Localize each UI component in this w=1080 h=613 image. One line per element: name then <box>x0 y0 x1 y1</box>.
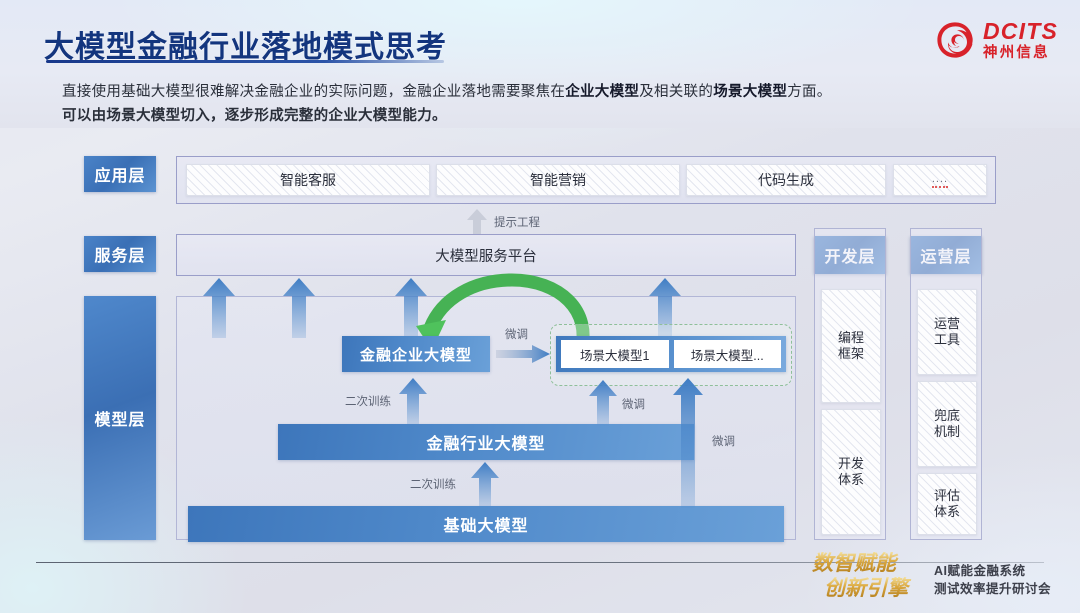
retrain-lower-arrow-icon <box>470 462 500 506</box>
subtitle-text-a: 直接使用基础大模型很难解决金融企业的实际问题，金融企业落地需要聚焦在 <box>62 84 565 100</box>
operations-layer-panel: 运营 工具 兜底 机制 评估 体系 <box>910 228 982 540</box>
ops-box-0-line1: 运营 <box>934 316 960 331</box>
model-bar-base: 基础大模型 <box>188 506 784 542</box>
event-logo-icon: 数智赋能 创新引擎 <box>812 548 924 606</box>
ops-box-1-line1: 兜底 <box>934 408 960 423</box>
title-underline <box>46 60 444 63</box>
up-arrow-2-icon <box>282 278 316 338</box>
ops-box-operation-tools: 运营 工具 <box>917 289 977 375</box>
layer-tag-service: 服务层 <box>84 236 156 272</box>
dev-box-1-line1: 开发 <box>838 456 864 471</box>
brand-logo: DCITS 神州信息 <box>935 20 1058 61</box>
app-box-intelligent-marketing: 智能营销 <box>436 164 680 196</box>
ops-box-1-line2: 机制 <box>934 424 960 439</box>
fine-tune-right-arrow-icon <box>496 345 550 363</box>
arrow-label-fine-tune-mid: 微调 <box>622 396 645 412</box>
dev-box-0-line1: 编程 <box>838 330 864 345</box>
subtitle-line-2: 可以由场景大模型切入，逐步形成完整的企业大模型能力。 <box>62 104 447 125</box>
model-bar-enterprise: 金融企业大模型 <box>342 336 490 372</box>
dev-box-0-line2: 框架 <box>838 346 864 361</box>
logo-text: DCITS 神州信息 <box>983 20 1058 61</box>
dev-box-1-line2: 体系 <box>838 472 864 487</box>
architecture-diagram: 应用层 服务层 模型层 开发层 运营层 大模型服务平台 编程 框架 开发 体系 … <box>0 128 1080 558</box>
subtitle-text-e: 方面。 <box>787 84 831 100</box>
ops-box-evaluation-system: 评估 体系 <box>917 473 977 535</box>
development-layer-panel: 编程 框架 开发 体系 <box>814 228 886 540</box>
subtitle-line-1: 直接使用基础大模型很难解决金融企业的实际问题，金融企业落地需要聚焦在企业大模型及… <box>62 80 832 101</box>
ops-box-2-line1: 评估 <box>934 488 960 503</box>
scene-model-chip-1: 场景大模型1 <box>561 340 669 368</box>
subtitle-strong-scene: 场景大模型 <box>713 84 787 100</box>
up-arrow-1-icon <box>202 278 236 338</box>
retrain-upper-arrow-icon <box>398 378 428 424</box>
scene-model-chip-2: 场景大模型... <box>674 340 782 368</box>
logo-name: DCITS <box>983 20 1058 43</box>
event-title-text: AI赋能金融系统 测试效率提升研讨会 <box>934 562 1051 598</box>
app-box-ellipsis: .... <box>893 164 987 196</box>
event-title-line1: AI赋能金融系统 <box>934 562 1051 580</box>
subtitle-text-c: 及相关联的 <box>639 84 713 100</box>
arrow-label-prompt-engineering: 提示工程 <box>494 214 540 230</box>
svg-text:数智赋能: 数智赋能 <box>812 551 899 575</box>
ops-box-0-line2: 工具 <box>934 332 960 347</box>
app-box-code-generation: 代码生成 <box>686 164 886 196</box>
svg-text:创新引擎: 创新引擎 <box>824 576 912 600</box>
ops-box-fallback-mechanism: 兜底 机制 <box>917 381 977 467</box>
app-box-intelligent-customer-service: 智能客服 <box>186 164 430 196</box>
dcits-swirl-icon <box>935 20 975 60</box>
dev-box-programming-framework: 编程 框架 <box>821 289 881 403</box>
layer-tag-model: 模型层 <box>84 296 156 540</box>
arrow-label-fine-tune-right: 微调 <box>712 433 735 449</box>
ops-box-2-line2: 体系 <box>934 504 960 519</box>
arrow-label-retrain-upper: 二次训练 <box>345 393 391 409</box>
logo-subname: 神州信息 <box>983 46 1058 61</box>
event-title-line2: 测试效率提升研讨会 <box>934 580 1051 598</box>
fine-tune-mid-arrow-icon <box>588 380 618 426</box>
prompt-engineering-arrow-icon <box>466 208 488 234</box>
app-box-ellipsis-label: .... <box>932 173 948 188</box>
scene-model-bar: 场景大模型1 场景大模型... <box>556 336 786 372</box>
subtitle-strong-enterprise: 企业大模型 <box>565 84 639 100</box>
arrow-label-fine-tune-top: 微调 <box>505 326 528 342</box>
model-bar-industry: 金融行业大模型 <box>278 424 694 460</box>
dev-box-development-system: 开发 体系 <box>821 409 881 535</box>
service-platform-label: 大模型服务平台 <box>435 245 537 266</box>
layer-tag-application: 应用层 <box>84 156 156 192</box>
fine-tune-right-tall-arrow-icon <box>672 378 704 508</box>
arrow-label-retrain-lower: 二次训练 <box>410 476 456 492</box>
